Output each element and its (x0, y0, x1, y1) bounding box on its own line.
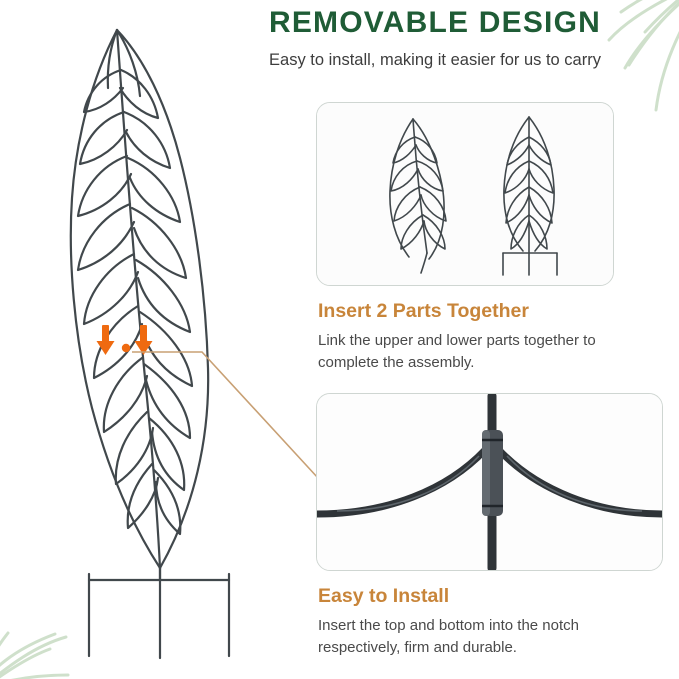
easy-to-install-image-card (316, 393, 663, 571)
caption-title-insert-2-parts: Insert 2 Parts Together (318, 300, 668, 323)
notch-joint-closeup (317, 394, 662, 570)
caption-insert-2-parts: Insert 2 Parts Together Link the upper a… (318, 300, 668, 374)
two-parts-diagram (317, 103, 613, 285)
product-infographic-page: REMOVABLE DESIGN Easy to install, making… (0, 0, 679, 679)
insert-2-parts-image-card (316, 102, 614, 286)
caption-desc-easy-to-install: Insert the top and bottom into the notch… (318, 615, 638, 659)
caption-title-easy-to-install: Easy to Install (318, 585, 668, 608)
caption-easy-to-install: Easy to Install Insert the top and botto… (318, 585, 668, 659)
caption-desc-insert-2-parts: Link the upper and lower parts together … (318, 330, 638, 374)
callout-arrows-icon (95, 325, 165, 365)
